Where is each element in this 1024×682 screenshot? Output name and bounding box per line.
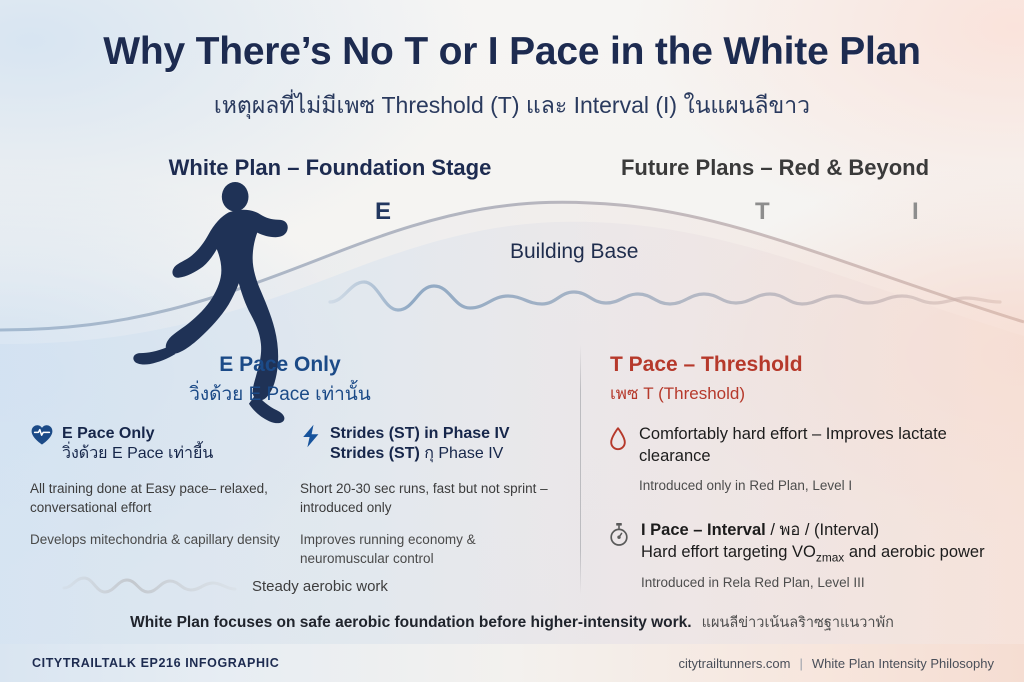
vo2max-suffix: and aerobic power: [844, 543, 984, 561]
right-bullet-heading-rest: / พอ / (Interval): [766, 521, 879, 539]
bullet-heading-th: Strides (ST) กุ Phase IV: [330, 444, 510, 465]
right-bullet-text: I Pace – Interval / พอ / (Interval) Hard…: [641, 520, 985, 593]
vo2max-prefix: Hard effort targeting VO: [641, 543, 816, 561]
stopwatch-icon: [608, 522, 630, 548]
bullet-heading: E Pace Only วิ่งด้วย E Pace เท่ายี้น: [30, 424, 300, 465]
right-section-heading: T Pace – Threshold เพซ T (Threshold): [610, 353, 803, 407]
bullet-heading-th-rest: กุ Phase IV: [420, 445, 504, 462]
right-bullet-heading-bold: I Pace – Interval: [641, 521, 766, 539]
bullet-body-1: All training done at Easy pace– relaxed,…: [30, 479, 300, 517]
zone-letter-t: T: [755, 198, 770, 226]
bullet-column-strides: Strides (ST) in Phase IV Strides (ST) กุ…: [300, 424, 565, 568]
right-bullet-heading: I Pace – Interval / พอ / (Interval): [641, 520, 985, 542]
bullet-heading: Strides (ST) in Phase IV Strides (ST) กุ…: [300, 424, 565, 465]
lightning-bolt-icon: [300, 424, 322, 448]
left-section-title-th: วิ่งด้วย E Pace เท่านั้น: [30, 379, 530, 409]
footer-subtitle: White Plan Intensity Philosophy: [812, 656, 994, 671]
footer-bar: CITYTRAILTALK EP216 INFOGRAPHIC citytrai…: [0, 644, 1024, 682]
zone-letter-e: E: [375, 198, 391, 226]
right-bullet-item: Comfortably hard effort – Improves lacta…: [608, 424, 1008, 495]
left-section-title-en: E Pace Only: [30, 353, 530, 377]
bullet-heading-en: Strides (ST) in Phase IV: [330, 424, 510, 444]
bullet-body-1: Short 20-30 sec runs, fast but not sprin…: [300, 479, 565, 517]
zone-letter-i: I: [912, 198, 919, 226]
heart-pulse-icon: [30, 424, 54, 446]
footer-meta: citytrailtunners.com | White Plan Intens…: [679, 656, 994, 671]
bullet-heading-th: วิ่งด้วย E Pace เท่ายี้น: [62, 444, 213, 465]
right-bullet-sub: Introduced in Rela Red Plan, Level III: [641, 574, 985, 592]
footer-website[interactable]: citytrailtunners.com: [679, 656, 791, 671]
footer-brand: CITYTRAILTALK EP216 INFOGRAPHIC: [32, 656, 279, 670]
column-heading-left: White Plan – Foundation Stage: [60, 155, 600, 181]
page-title: Why There’s No T or I Pace in the White …: [0, 30, 1024, 74]
bullet-column-e-pace: E Pace Only วิ่งด้วย E Pace เท่ายี้น All…: [30, 424, 300, 549]
bullet-column-t-pace: Comfortably hard effort – Improves lacta…: [608, 424, 1008, 593]
right-bullet-item: I Pace – Interval / พอ / (Interval) Hard…: [608, 520, 1008, 593]
right-bullet-heading: Comfortably hard effort – Improves lacta…: [639, 424, 1008, 468]
vertical-divider: [580, 345, 581, 595]
tagline-th: แผนลีข่าวเน้นลริาซฐาแนวาพัก: [702, 615, 894, 631]
page-subtitle: เหตุผลที่ไม่มีเพซ Threshold (T) และ Inte…: [0, 88, 1024, 124]
right-section-title-en: T Pace – Threshold: [610, 353, 803, 377]
building-base-label: Building Base: [510, 240, 638, 264]
bullet-body-2: Improves running economy & neuromuscular…: [300, 530, 565, 568]
tagline-en: White Plan focuses on safe aerobic found…: [130, 614, 692, 631]
steady-aerobic-label: Steady aerobic work: [252, 578, 388, 595]
left-section-heading: E Pace Only วิ่งด้วย E Pace เท่านั้น: [30, 353, 530, 409]
bullet-body-2: Develops mitechondria & capillary densit…: [30, 530, 300, 549]
column-heading-right: Future Plans – Red & Beyond: [545, 155, 1005, 181]
bullet-heading-th-prefix: Strides (ST): [330, 445, 420, 462]
bullet-heading-en: E Pace Only: [62, 424, 213, 444]
bullet-heading-text: E Pace Only วิ่งด้วย E Pace เท่ายี้น: [62, 424, 213, 465]
right-bullet-heading-line2: Hard effort targeting VOzmax and aerobic…: [641, 542, 985, 566]
water-drop-icon: [608, 426, 628, 452]
infographic-canvas: Why There’s No T or I Pace in the White …: [0, 0, 1024, 682]
tagline: White Plan focuses on safe aerobic found…: [0, 611, 1024, 634]
right-bullet-sub: Introduced only in Red Plan, Level I: [639, 477, 1008, 495]
footer-separator: |: [800, 656, 803, 671]
vo2max-subscript: zmax: [816, 550, 844, 564]
right-bullet-text: Comfortably hard effort – Improves lacta…: [639, 424, 1008, 495]
right-section-title-th: เพซ T (Threshold): [610, 380, 803, 407]
bullet-heading-text: Strides (ST) in Phase IV Strides (ST) กุ…: [330, 424, 510, 465]
